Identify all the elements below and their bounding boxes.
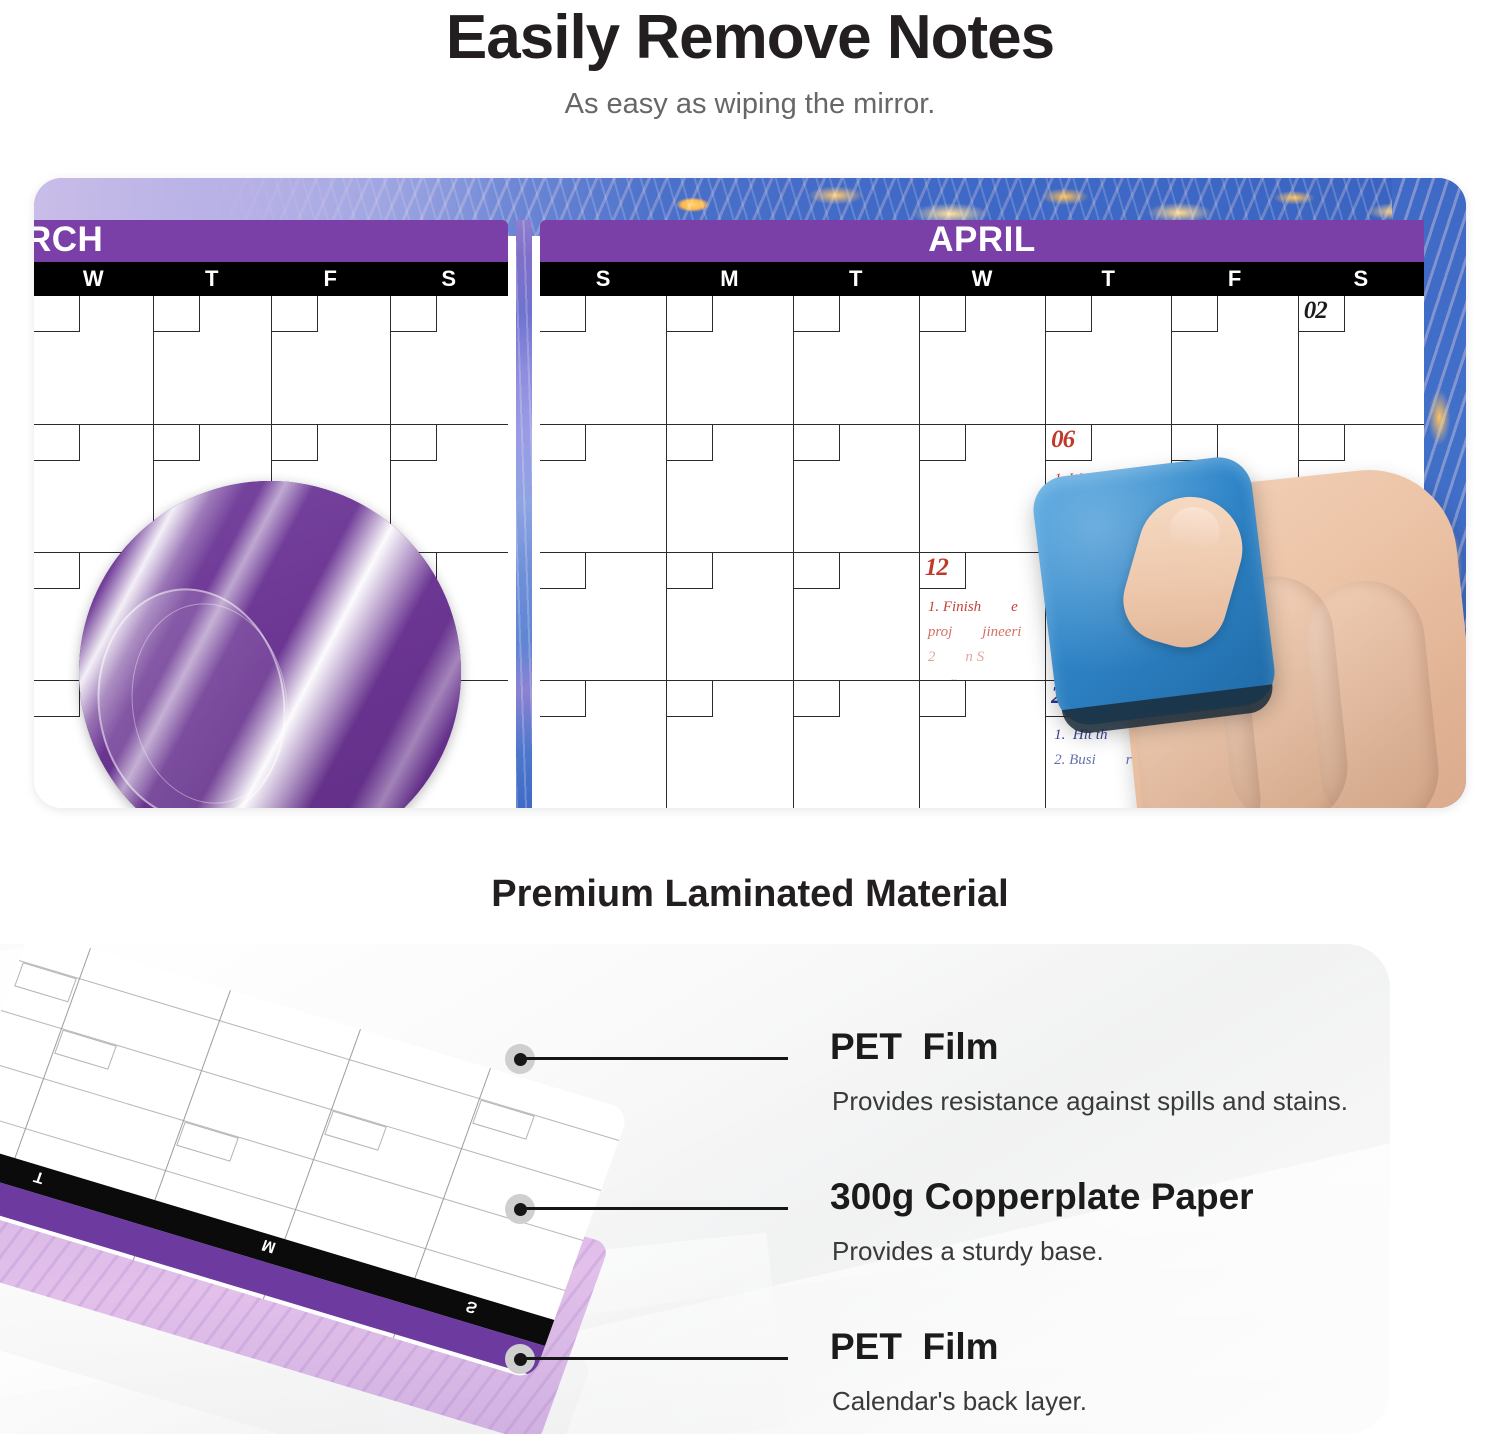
- calendar-day-cell[interactable]: [666, 681, 792, 808]
- date-box: [391, 296, 437, 332]
- date-box: [540, 681, 586, 717]
- calendar-day-cell[interactable]: [793, 553, 919, 680]
- date-box: [1172, 296, 1218, 332]
- calendar-day-cell[interactable]: [390, 296, 509, 424]
- date-box: [794, 425, 840, 461]
- date-box: [540, 553, 586, 589]
- page-subtitle: As easy as wiping the mirror.: [0, 88, 1500, 121]
- calendar-day-cell[interactable]: [540, 425, 666, 552]
- date-box: [667, 553, 713, 589]
- date-box: [1299, 425, 1345, 461]
- weekday-1: T: [153, 262, 272, 296]
- stack-weekday-1: M: [260, 1236, 279, 1257]
- date-box: [667, 425, 713, 461]
- calendar-week-row: 02: [540, 296, 1424, 424]
- calendar-day-cell[interactable]: [793, 296, 919, 424]
- date-number: 06: [1051, 426, 1074, 454]
- date-box: [34, 681, 80, 717]
- calendar-day-cell[interactable]: [793, 425, 919, 552]
- callout-leader-line: [520, 1057, 788, 1060]
- date-box: [391, 425, 437, 461]
- calendar-day-cell[interactable]: [1045, 296, 1171, 424]
- date-box: [920, 296, 966, 332]
- calendar-week-row: [34, 296, 508, 424]
- weekday-6: S: [1298, 262, 1424, 296]
- month-band-right: APRIL: [540, 220, 1424, 262]
- calendar-day-cell[interactable]: [666, 296, 792, 424]
- calendar-day-cell[interactable]: [540, 296, 666, 424]
- month-band-left: RCH: [34, 220, 508, 262]
- note-line: 1. Finish e: [928, 595, 1041, 620]
- weekday-3: W: [919, 262, 1045, 296]
- weekday-row-right: SMTWTFS: [540, 262, 1424, 296]
- calendar-day-cell[interactable]: [1171, 296, 1297, 424]
- finger-3: [1301, 575, 1444, 808]
- calendar-day-cell[interactable]: [540, 681, 666, 808]
- note-line: proj jineeri: [928, 620, 1041, 645]
- date-box: [154, 296, 200, 332]
- date-box: [1172, 425, 1218, 461]
- callout-leader-line: [520, 1207, 788, 1210]
- date-number: 02: [1304, 297, 1327, 325]
- date-box: [794, 296, 840, 332]
- date-box: [34, 553, 80, 589]
- calendar-day-cell[interactable]: [666, 553, 792, 680]
- stack-weekday-2: S: [464, 1297, 480, 1317]
- weekday-4: T: [1045, 262, 1171, 296]
- note-line: r: [928, 670, 1041, 680]
- date-box: [272, 425, 318, 461]
- date-box: [1046, 296, 1092, 332]
- date-number: 12: [925, 554, 948, 582]
- callout-description: Calendar's back layer.: [832, 1386, 1087, 1417]
- calendar-day-cell[interactable]: [271, 296, 390, 424]
- calendar-day-cell[interactable]: [666, 425, 792, 552]
- date-box: 12: [920, 553, 966, 589]
- calendar-day-cell[interactable]: [540, 553, 666, 680]
- date-box: [154, 425, 200, 461]
- date-box: [920, 681, 966, 717]
- calendar-day-cell[interactable]: 02: [1298, 296, 1424, 424]
- date-box: [794, 553, 840, 589]
- stack-weekday-0: T: [32, 1167, 47, 1187]
- weekday-row-left: WTFS: [34, 262, 508, 296]
- weekday-5: F: [1171, 262, 1297, 296]
- date-box: [272, 296, 318, 332]
- calendar-day-cell[interactable]: [919, 425, 1045, 552]
- date-box: [540, 296, 586, 332]
- date-box: [34, 425, 80, 461]
- date-box: 06: [1046, 425, 1092, 461]
- weekday-2: F: [271, 262, 390, 296]
- handwritten-note: 1. Finish eproj jineeri2 n S r: [928, 595, 1041, 680]
- callout-title: PET Film: [830, 1026, 999, 1068]
- weekday-0: W: [34, 262, 153, 296]
- callout-description: Provides resistance against spills and s…: [832, 1086, 1348, 1117]
- film-magnifier-inset: [79, 481, 461, 808]
- date-box: [540, 425, 586, 461]
- calendar-day-cell[interactable]: 121. Finish eproj jineeri2 n S r: [919, 553, 1045, 680]
- date-box: [667, 681, 713, 717]
- date-box: 02: [1299, 296, 1345, 332]
- hero-header: Easily Remove Notes As easy as wiping th…: [0, 0, 1500, 150]
- date-box: [667, 296, 713, 332]
- date-box: [34, 296, 80, 332]
- laminate-layers-panel: TMS JA PET FilmProvides resistance again…: [0, 944, 1390, 1434]
- calendar-day-cell[interactable]: [793, 681, 919, 808]
- calendar-day-cell[interactable]: [34, 296, 153, 424]
- month-label-right: APRIL: [540, 220, 1424, 262]
- callout-leader-line: [520, 1357, 788, 1360]
- exploded-layer-stack: TMS JA: [0, 944, 590, 1306]
- callout-title: PET Film: [830, 1326, 999, 1368]
- calendar-spine: [516, 220, 532, 808]
- callout-description: Provides a sturdy base.: [832, 1236, 1104, 1267]
- calendar-photo-panel: RCH WTFS 261. Read "TMan an sea" APRIL S…: [34, 178, 1466, 808]
- weekday-1: M: [666, 262, 792, 296]
- date-box: [794, 681, 840, 717]
- material-section-title: Premium Laminated Material: [0, 873, 1500, 916]
- month-label-left: RCH: [34, 220, 103, 262]
- calendar-day-cell[interactable]: [919, 681, 1045, 808]
- note-line: 2 n S: [928, 645, 1041, 670]
- weekday-3: S: [390, 262, 509, 296]
- weekday-2: T: [793, 262, 919, 296]
- weekday-0: S: [540, 262, 666, 296]
- calendar-day-cell[interactable]: [153, 296, 272, 424]
- page-title: Easily Remove Notes: [0, 2, 1500, 73]
- date-box: [920, 425, 966, 461]
- callout-title: 300g Copperplate Paper: [830, 1176, 1254, 1218]
- calendar-day-cell[interactable]: [919, 296, 1045, 424]
